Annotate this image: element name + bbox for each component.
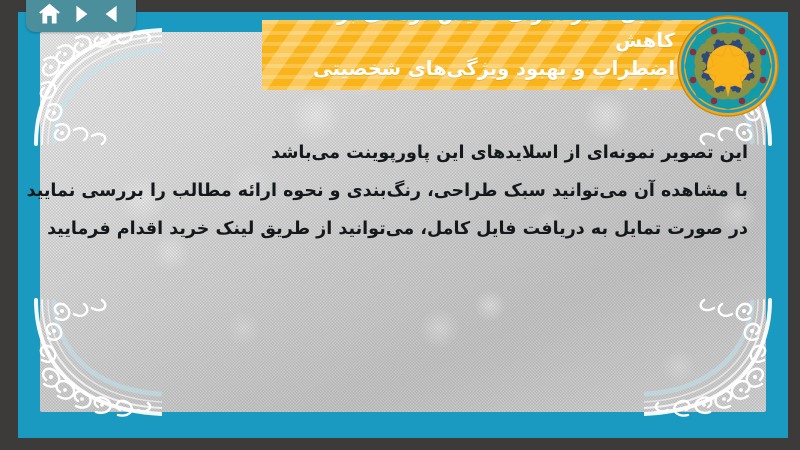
body-line-1: این تصویر نمونه‌ای از اسلایدهای این پاور… [58,134,748,172]
home-icon [38,3,61,26]
slide-body-text: این تصویر نمونه‌ای از اسلایدهای این پاور… [58,134,748,248]
slide-title: تحلیل تأثیر اجرای نمایش درمانی بر کاهش ا… [262,20,709,90]
slide-title-banner: تحلیل تأثیر اجرای نمایش درمانی بر کاهش ا… [262,20,720,90]
home-button[interactable] [37,1,63,27]
next-slide-button[interactable] [68,1,94,27]
previous-slide-button[interactable] [99,1,125,27]
presentation-viewer: تحلیل تأثیر اجرای نمایش درمانی بر کاهش ا… [0,0,800,450]
body-line-2: با مشاهده آن می‌توانید سبک طراحی، رنگ‌بن… [58,172,748,210]
title-accent-bar [709,20,720,90]
body-line-3: در صورت تمایل به دریافت فایل کامل، می‌تو… [58,210,748,248]
navigation-toolbar [26,0,136,32]
triangle-left-icon [101,3,123,25]
slide-title-line-1: تحلیل تأثیر اجرای نمایش درمانی بر کاهش [272,20,675,55]
triangle-right-icon [70,3,92,25]
slide-canvas: تحلیل تأثیر اجرای نمایش درمانی بر کاهش ا… [18,12,788,438]
slide-title-line-2: اضطراب و بهبود ویژگی‌های شخصیتی جوانان [272,55,675,90]
title-banner-body: تحلیل تأثیر اجرای نمایش درمانی بر کاهش ا… [262,20,709,90]
